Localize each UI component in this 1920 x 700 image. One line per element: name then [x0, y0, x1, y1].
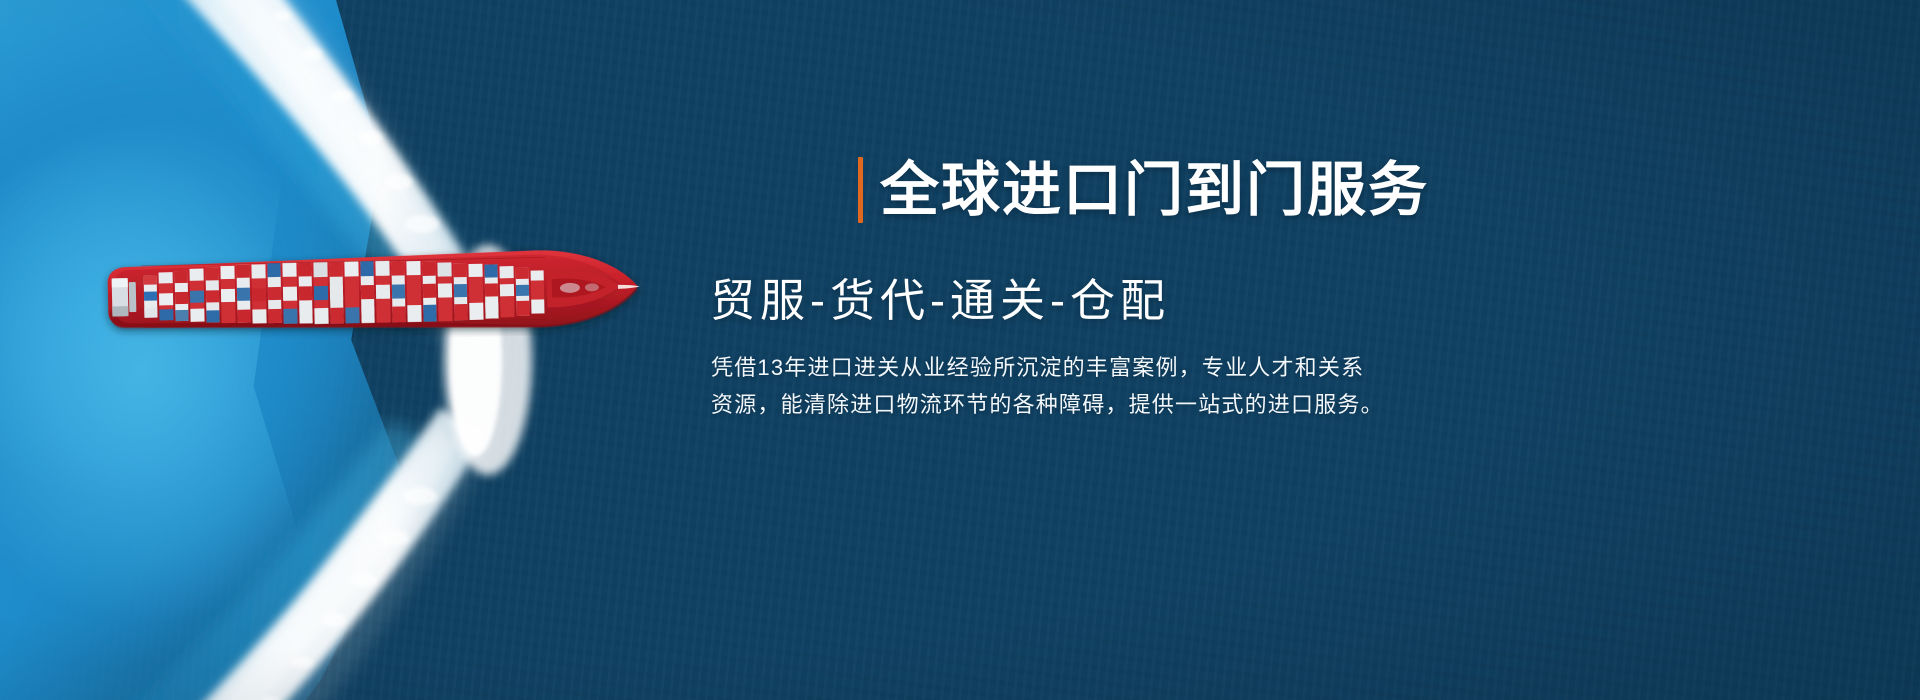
hero-title-row: 全球进口门到门服务 [858, 152, 1465, 228]
hero-subtitle: 贸服-货代-通关-仓配 [710, 275, 1465, 327]
hero-copy: 全球进口门到门服务 贸服-货代-通关-仓配 凭借13年进口进关从业经验所沉淀的丰… [705, 152, 1465, 423]
hero-description-line-2: 资源，能清除进口物流环节的各种障碍，提供一站式的进口服务。 [711, 386, 1427, 423]
accent-bar-icon [858, 157, 863, 223]
hero-description: 凭借13年进口进关从业经验所沉淀的丰富案例，专业人才和关系 资源，能清除进口物流… [711, 349, 1427, 423]
hero-banner: 全球进口门到门服务 贸服-货代-通关-仓配 凭借13年进口进关从业经验所沉淀的丰… [0, 0, 1920, 700]
hero-description-line-1: 凭借13年进口进关从业经验所沉淀的丰富案例，专业人才和关系 [711, 349, 1427, 386]
page-title: 全球进口门到门服务 [880, 157, 1429, 223]
